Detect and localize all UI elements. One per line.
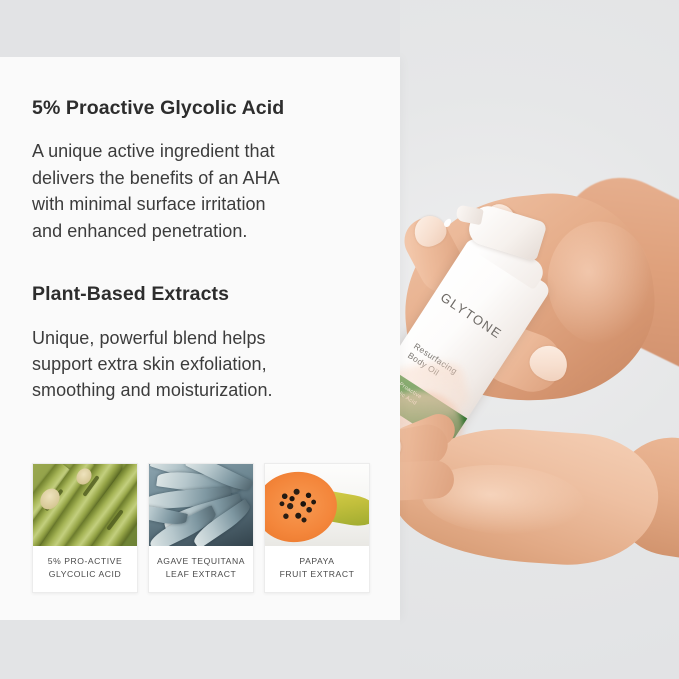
block-body-text: Unique, powerful blend helps support ext… [32, 325, 376, 404]
ingredient-block-glycolic-acid: 5% Proactive Glycolic Acid A unique acti… [32, 96, 376, 244]
agave-leaves-photo [149, 464, 253, 546]
ingredient-card-row: 5% PRO-ACTIVE GLYCOLIC ACID AGAVE [32, 463, 370, 593]
panel-text-content: 5% Proactive Glycolic Acid A unique acti… [32, 96, 376, 404]
bottom-gray-band [0, 620, 400, 679]
ingredient-card: 5% PRO-ACTIVE GLYCOLIC ACID [32, 463, 138, 593]
ingredient-card: AGAVE TEQUITANA LEAF EXTRACT [148, 463, 254, 593]
block-body-text: A unique active ingredient that delivers… [32, 138, 376, 244]
papaya-fruit-photo [265, 464, 369, 546]
ingredient-card-caption: PAPAYA FRUIT EXTRACT [265, 546, 369, 592]
ingredient-block-plant-extracts: Plant-Based Extracts Unique, powerful bl… [32, 282, 376, 404]
top-gray-band [0, 0, 400, 57]
block-heading: 5% Proactive Glycolic Acid [32, 96, 376, 120]
sugarcane-photo [33, 464, 137, 546]
ingredient-card-caption: 5% PRO-ACTIVE GLYCOLIC ACID [33, 546, 137, 592]
papaya-artwork [265, 464, 369, 546]
content-panel: 5% Proactive Glycolic Acid A unique acti… [0, 57, 400, 620]
product-ingredient-graphic: GLYTONE Resurfacing Body Oil 5% Proactiv… [0, 0, 679, 679]
agave-artwork [149, 464, 253, 546]
sugarcane-artwork [33, 464, 137, 546]
ingredient-card-caption: AGAVE TEQUITANA LEAF EXTRACT [149, 546, 253, 592]
ingredient-card: PAPAYA FRUIT EXTRACT [264, 463, 370, 593]
block-heading: Plant-Based Extracts [32, 282, 376, 306]
